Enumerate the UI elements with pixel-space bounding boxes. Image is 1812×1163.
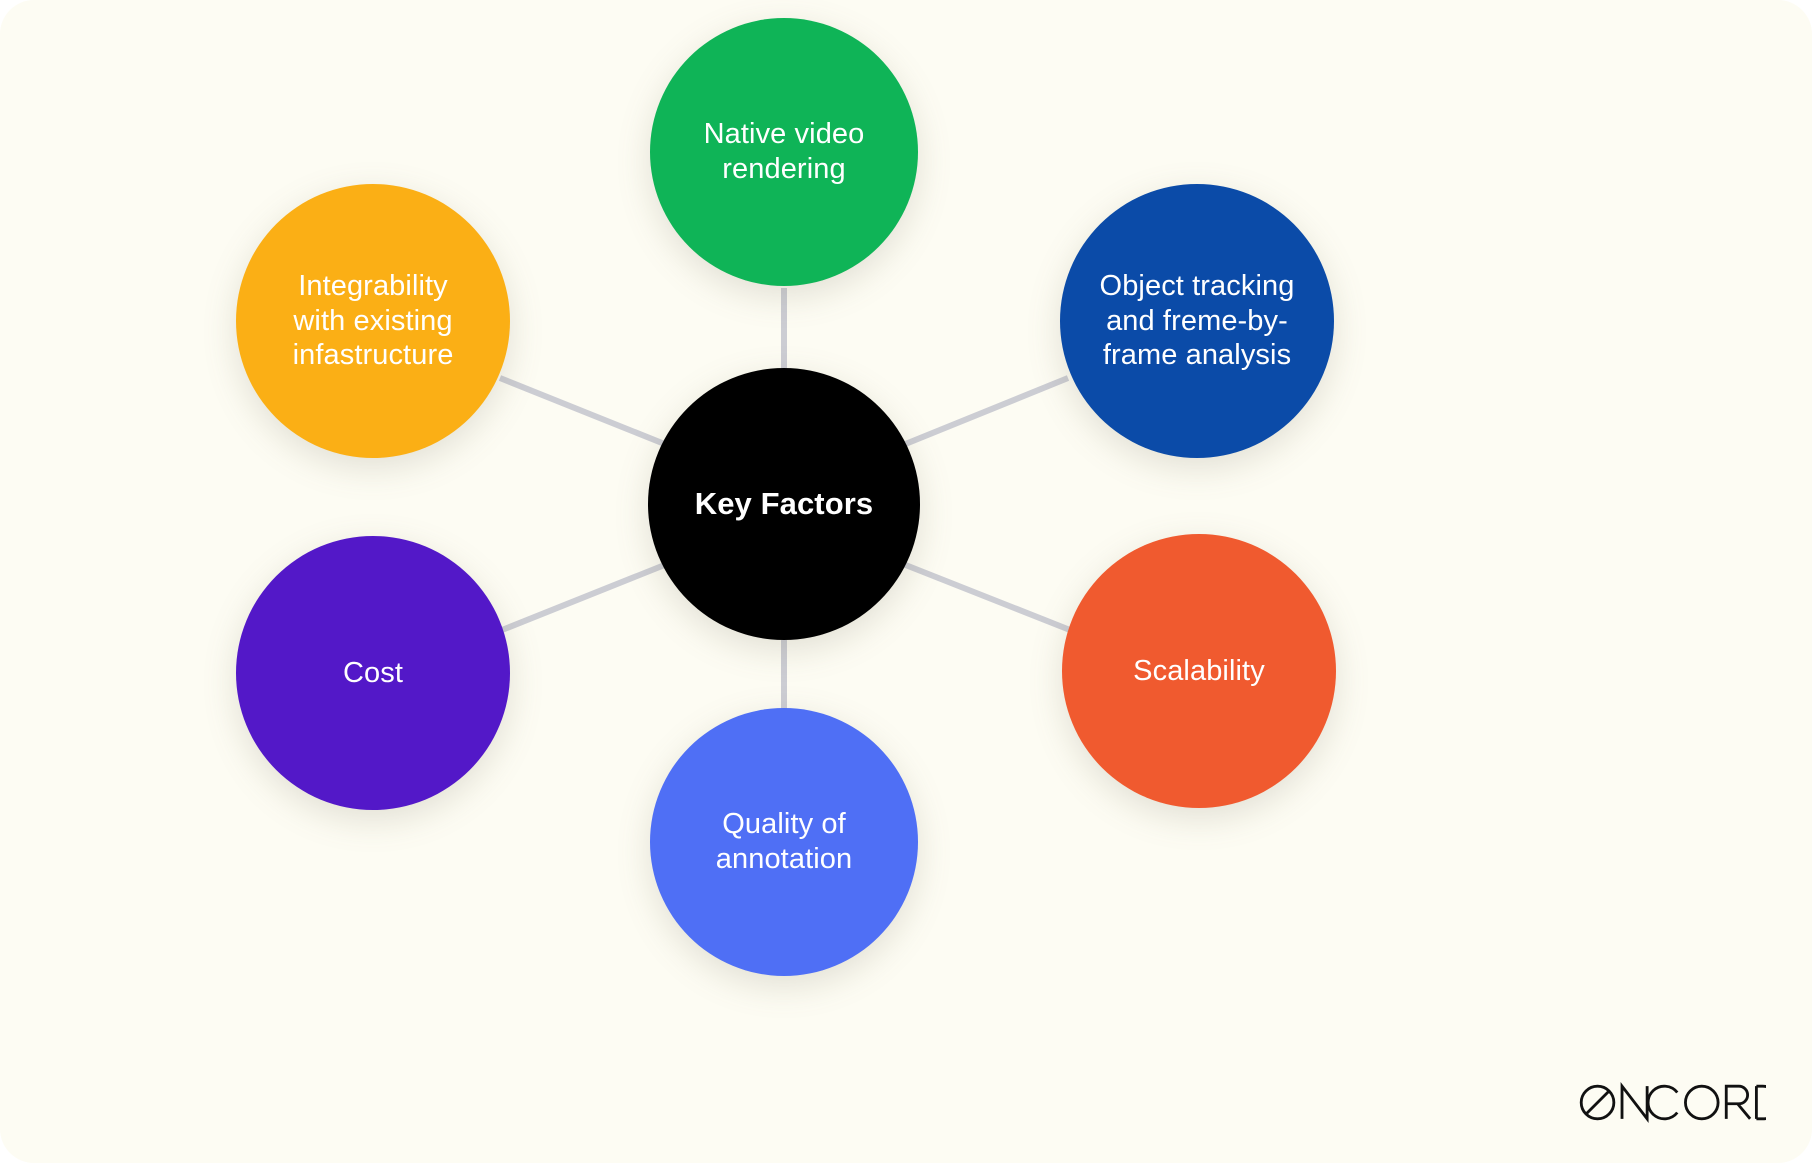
node-label: Native video rendering <box>704 117 865 187</box>
node-label: Scalability <box>1133 654 1265 689</box>
connector-center-to-scalability <box>898 562 1070 630</box>
node-label: Object tracking and freme-by- frame anal… <box>1100 269 1295 373</box>
node-quality-of-annotation[interactable]: Quality of annotation <box>650 708 918 976</box>
connector-center-to-cost <box>502 562 672 630</box>
connector-center-to-integrability <box>500 378 672 447</box>
node-integrability[interactable]: Integrability with existing infastructur… <box>236 184 510 458</box>
node-key-factors-center[interactable]: Key Factors <box>648 368 920 640</box>
connector-center-to-object <box>898 378 1068 447</box>
node-label: Cost <box>343 656 403 691</box>
node-native-video-rendering[interactable]: Native video rendering <box>650 18 918 286</box>
encord-logo <box>1576 1073 1766 1127</box>
diagram-canvas: Native video rendering Integrability wit… <box>0 0 1812 1163</box>
node-object-tracking[interactable]: Object tracking and freme-by- frame anal… <box>1060 184 1334 458</box>
node-cost[interactable]: Cost <box>236 536 510 810</box>
center-node-label: Key Factors <box>695 485 874 522</box>
node-label: Integrability with existing infastructur… <box>293 269 454 373</box>
node-label: Quality of annotation <box>716 807 852 877</box>
node-scalability[interactable]: Scalability <box>1062 534 1336 808</box>
